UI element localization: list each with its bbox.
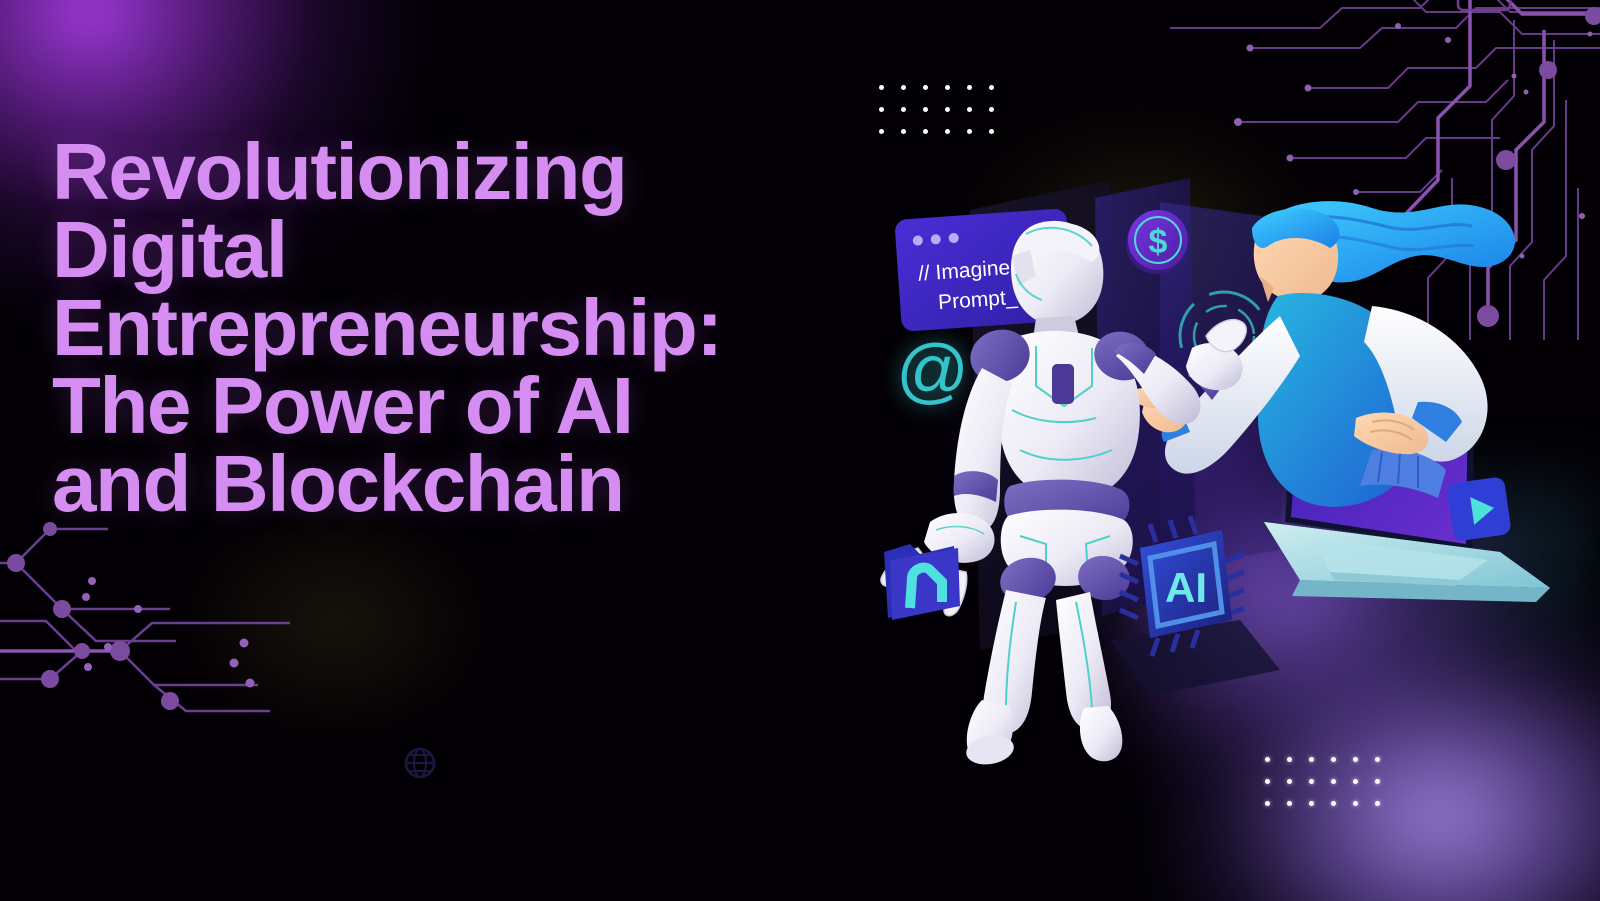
dot-grid-top — [879, 85, 994, 134]
svg-text:AI: AI — [1165, 564, 1207, 611]
globe-icon — [402, 745, 438, 781]
svg-text:$: $ — [1149, 223, 1168, 261]
svg-text:@: @ — [896, 331, 969, 411]
circuit-pattern-bottom-left — [0, 511, 330, 771]
page-title: Revolutionizing Digital Entrepreneurship… — [52, 133, 932, 523]
ai-blockchain-illustration: // Imagine Prompt_ _ @ $ </> — [860, 150, 1560, 770]
hero-banner: Revolutionizing Digital Entrepreneurship… — [0, 0, 1600, 901]
at-symbol-icon: @ — [896, 331, 969, 411]
play-button-icon — [1446, 476, 1512, 542]
